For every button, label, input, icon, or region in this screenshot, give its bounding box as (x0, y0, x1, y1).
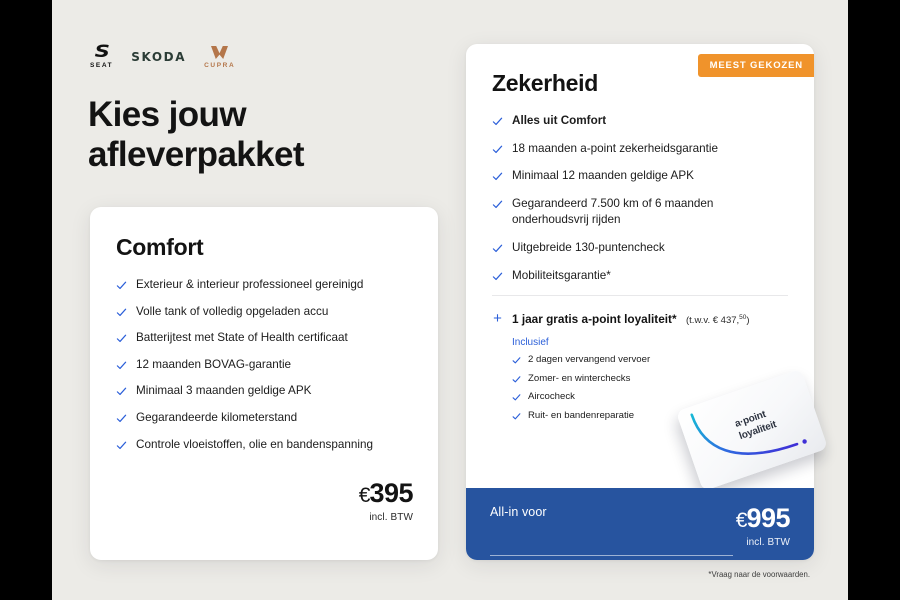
feature-text: Minimaal 12 maanden geldige APK (512, 168, 694, 185)
feature-text: 12 maanden BOVAG-garantie (136, 357, 291, 374)
comfort-title: Comfort (116, 234, 412, 261)
inclusief-text: Aircocheck (528, 391, 575, 403)
plus-icon: + (492, 313, 503, 325)
feature-text: Exterieur & interieur professioneel gere… (136, 277, 363, 294)
poster-stage: S SEAT SKODA CUPRA Kies jouw afleverpakk… (0, 0, 900, 600)
inclusief-text: Zomer- en winterchecks (528, 373, 630, 385)
check-icon (116, 440, 127, 451)
check-icon (116, 307, 127, 318)
list-item: Exterieur & interieur professioneel gere… (116, 277, 412, 294)
zekerheid-price-note: incl. BTW (736, 537, 790, 548)
list-item: Alles uit Comfort (492, 113, 788, 130)
list-item: 2 dagen vervangend vervoer (512, 354, 788, 366)
check-icon (512, 412, 521, 421)
poster-canvas: S SEAT SKODA CUPRA Kies jouw afleverpakk… (52, 0, 848, 600)
check-icon (116, 360, 127, 371)
footer-underline (490, 555, 733, 556)
list-item: Minimaal 3 maanden geldige APK (116, 383, 412, 400)
list-item: Gegarandeerd 7.500 km of 6 maanden onder… (492, 196, 788, 229)
price-value: 995 (746, 503, 790, 533)
check-icon (512, 356, 521, 365)
footnote-text: *Vraag naar de voorwaarden. (708, 570, 810, 579)
seat-logo: S SEAT (90, 44, 113, 70)
list-item: Uitgebreide 130-puntencheck (492, 240, 788, 257)
check-icon (116, 280, 127, 291)
footer-price-block: €995 incl. BTW (736, 505, 790, 548)
check-icon (492, 243, 503, 254)
feature-text: Uitgebreide 130-puntencheck (512, 240, 665, 257)
cupra-wordmark: CUPRA (204, 63, 235, 70)
zekerheid-body: MEEST GEKOZEN Zekerheid Alles uit Comfor… (466, 44, 814, 422)
cupra-logo: CUPRA (204, 45, 235, 70)
list-item: Controle vloeistoffen, olie en bandenspa… (116, 437, 412, 454)
brand-logo-row: S SEAT SKODA CUPRA (90, 42, 235, 72)
skoda-wordmark: SKODA (131, 51, 186, 63)
bonus-row: + 1 jaar gratis a-point loyaliteit* (t.w… (492, 310, 788, 328)
comfort-feature-list: Exterieur & interieur professioneel gere… (116, 277, 412, 453)
zekerheid-price-footer: All-in voor €995 incl. BTW (466, 488, 814, 560)
bonus-value: (t.w.v. € 437,50) (686, 315, 750, 326)
page-title-line-1: Kies jouw (88, 95, 246, 134)
feature-text: Minimaal 3 maanden geldige APK (136, 383, 311, 400)
feature-text: Controle vloeistoffen, olie en bandenspa… (136, 437, 373, 454)
check-icon (116, 333, 127, 344)
check-icon (492, 199, 503, 210)
comfort-price-amount: €395 (359, 480, 413, 507)
feature-text: Gegarandeerde kilometerstand (136, 410, 297, 427)
check-icon (512, 393, 521, 402)
inclusief-label: Inclusief (512, 337, 788, 348)
feature-text: Alles uit Comfort (512, 113, 606, 130)
list-item: Mobiliteitsgarantie* (492, 268, 788, 285)
check-icon (492, 116, 503, 127)
zekerheid-feature-list: Alles uit Comfort 18 maanden a-point zek… (492, 113, 788, 284)
list-item: Minimaal 12 maanden geldige APK (492, 168, 788, 185)
cupra-tribal-icon (210, 45, 229, 61)
check-icon (116, 386, 127, 397)
skoda-logo: SKODA (131, 51, 186, 63)
check-icon (492, 271, 503, 282)
package-card-zekerheid[interactable]: MEEST GEKOZEN Zekerheid Alles uit Comfor… (466, 44, 814, 560)
bonus-value-prefix: (t.w.v. € 437, (686, 315, 739, 326)
check-icon (492, 171, 503, 182)
feature-text: 18 maanden a-point zekerheidsgarantie (512, 141, 718, 158)
comfort-price-block: €395 incl. BTW (359, 480, 413, 523)
seat-mark-icon: S (95, 44, 109, 61)
list-item: 12 maanden BOVAG-garantie (116, 357, 412, 374)
price-value: 395 (369, 478, 413, 508)
inclusief-text: Ruit- en bandenreparatie (528, 410, 634, 422)
feature-text: Gegarandeerd 7.500 km of 6 maanden onder… (512, 196, 788, 229)
list-item: Gegarandeerde kilometerstand (116, 410, 412, 427)
check-icon (492, 144, 503, 155)
zekerheid-price-amount: €995 (736, 505, 790, 532)
package-card-comfort[interactable]: Comfort Exterieur & interieur profession… (90, 207, 438, 560)
bonus-text-wrap: 1 jaar gratis a-point loyaliteit* (t.w.v… (512, 310, 750, 328)
bonus-value-suffix: ) (746, 315, 749, 326)
list-item: Zomer- en winterchecks (512, 373, 788, 385)
inclusief-text: 2 dagen vervangend vervoer (528, 354, 650, 366)
list-item: Volle tank of volledig opgeladen accu (116, 304, 412, 321)
list-item: 18 maanden a-point zekerheidsgarantie (492, 141, 788, 158)
check-icon (116, 413, 127, 424)
left-black-band (0, 0, 52, 600)
status-badge: MEEST GEKOZEN (698, 54, 814, 77)
page-title-line-2: afleverpakket (88, 135, 304, 174)
page-title: Kies jouw afleverpakket (88, 95, 304, 175)
currency-symbol: € (359, 484, 370, 507)
list-item: Batterijtest met State of Health certifi… (116, 330, 412, 347)
feature-text: Mobiliteitsgarantie* (512, 268, 611, 285)
check-icon (512, 375, 521, 384)
feature-text: Volle tank of volledig opgeladen accu (136, 304, 328, 321)
section-divider (492, 295, 788, 296)
right-black-band (848, 0, 900, 600)
footer-price-label: All-in voor (490, 505, 547, 519)
bonus-label: 1 jaar gratis a-point loyaliteit* (512, 312, 677, 326)
seat-wordmark: SEAT (90, 63, 113, 70)
currency-symbol: € (736, 509, 747, 532)
comfort-price-note: incl. BTW (359, 512, 413, 523)
feature-text: Batterijtest met State of Health certifi… (136, 330, 348, 347)
